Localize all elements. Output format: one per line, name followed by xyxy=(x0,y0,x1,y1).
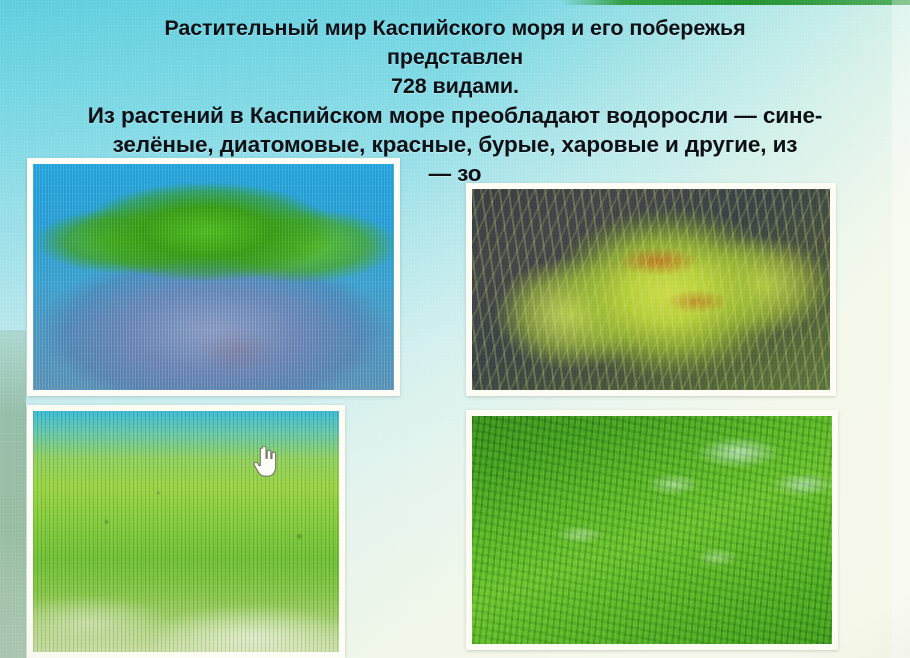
slide-title-line-2: представлен xyxy=(0,43,910,72)
slide-body-line-1: Из растений в Каспийском море преобладаю… xyxy=(0,101,910,130)
slide-body-line-2: зелёные, диатомовые, красные, бурые, хар… xyxy=(0,130,910,159)
screen-left-edge-band xyxy=(0,330,26,658)
photo-chara-image xyxy=(472,189,830,390)
photo-shore-grass-image xyxy=(33,411,339,652)
photo-sea-lettuce-image xyxy=(472,416,832,644)
slide-title-line-1: Растительный мир Каспийского моря и его … xyxy=(0,14,910,43)
photo-chara[interactable] xyxy=(466,183,836,396)
photo-sea-lettuce[interactable] xyxy=(466,410,838,650)
projected-slide-screen: Растительный мир Каспийского моря и его … xyxy=(0,0,910,658)
photo-algae-rock-image xyxy=(33,164,394,390)
photo-shore-grass[interactable] xyxy=(27,405,345,658)
photo-algae-rock[interactable] xyxy=(27,158,400,396)
slide-species-count-line: 728 видами. xyxy=(0,72,910,101)
screen-top-green-edge xyxy=(560,0,910,5)
